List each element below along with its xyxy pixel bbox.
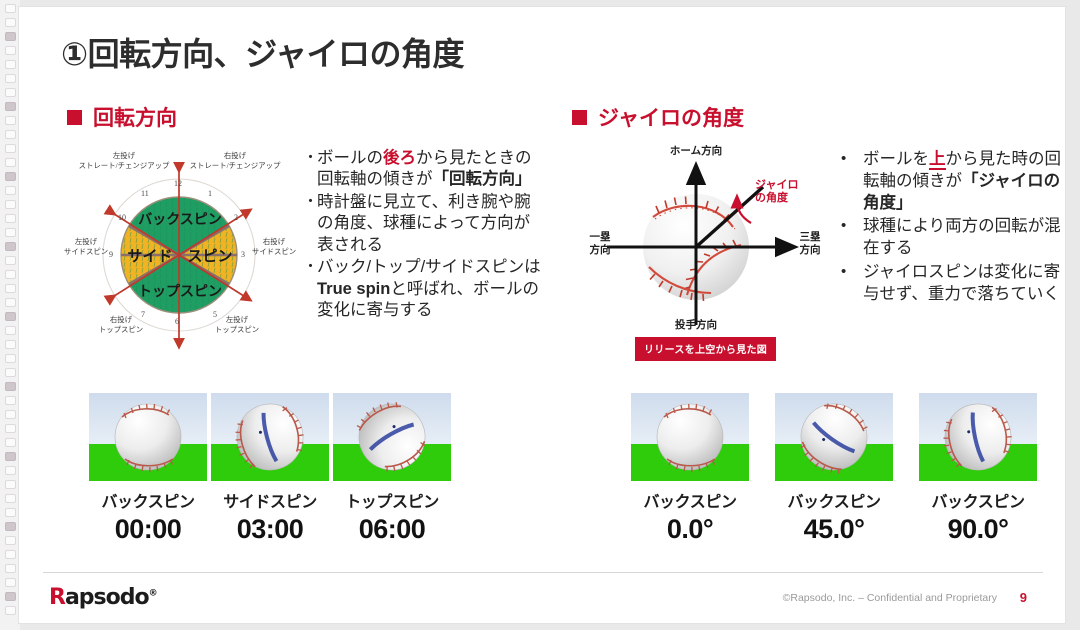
bullet-segment: 上 xyxy=(929,150,946,170)
binding-ring xyxy=(5,158,16,167)
binding-ring xyxy=(5,340,16,349)
binding-ring xyxy=(5,172,16,181)
right-bullet-list: •ボールを上から見た時の回転軸の傾きが「ジャイロの角度」•球種により両方の回転が… xyxy=(841,149,1069,307)
gyro-angle-value: 90.0° xyxy=(919,514,1037,545)
binding-ring xyxy=(5,186,16,195)
wedge-label-topspin: トップスピン xyxy=(131,281,229,301)
binding-ring xyxy=(5,298,16,307)
clock-number-6: 6 xyxy=(175,317,179,326)
bullet-dot-icon: • xyxy=(841,149,863,214)
spin-direction-value: 03:00 xyxy=(211,514,329,545)
gyro-angle-value: 0.0° xyxy=(631,514,749,545)
spin-direction-clock-diagram: 12 1 2 3 5 6 7 9 10 11 バックスピン サイド スピン トッ… xyxy=(63,147,295,362)
binding-ring xyxy=(5,214,16,223)
binding-ring xyxy=(5,312,16,321)
gyro-angle-caption: バックスピン xyxy=(631,488,749,512)
clock-outer-label-left: 左投げ サイドスピン xyxy=(59,237,113,257)
binding-ring xyxy=(5,438,16,447)
gyro-angle-caption: バックスピン xyxy=(775,488,893,512)
baseball-image xyxy=(211,393,329,481)
binding-ring xyxy=(5,74,16,83)
rapsodo-logo: Rapsodo® xyxy=(49,585,157,610)
ball-thumbnail xyxy=(919,393,1037,481)
binding-ring xyxy=(5,116,16,125)
bullet-segment: 後ろ xyxy=(383,149,416,167)
wedge-label-side: サイド xyxy=(121,245,179,266)
bullet-dot-icon: ・ xyxy=(303,148,317,191)
gyro-angle-value: 45.0° xyxy=(775,514,893,545)
binding-ring xyxy=(5,4,16,13)
spin-direction-card: トップスピン06:00 xyxy=(333,393,451,545)
binding-ring xyxy=(5,382,16,391)
slide-canvas: ①回転方向、ジャイロの角度 回転方向 ジャイロの角度 xyxy=(18,6,1066,624)
binding-ring xyxy=(5,228,16,237)
section-heading-label: 回転方向 xyxy=(93,102,177,132)
binding-ring xyxy=(5,452,16,461)
gyro-angle-card: バックスピン90.0° xyxy=(919,393,1037,545)
binding-ring xyxy=(5,130,16,139)
left-bullet-text: バック/トップ/サイドスピンはTrue spinと呼ばれ、ボールの変化に寄与する xyxy=(317,257,543,321)
bullet-square-icon xyxy=(67,110,82,125)
logo-registered-mark: ® xyxy=(149,589,157,599)
bullet-segment: 「回転方向」 xyxy=(433,170,532,188)
binding-ring xyxy=(5,284,16,293)
binding-ring xyxy=(5,18,16,27)
gyro-angle-caption: バックスピン xyxy=(919,488,1037,512)
binding-ring xyxy=(5,396,16,405)
spiral-binding xyxy=(0,0,20,630)
section-heading-spin-direction: 回転方向 xyxy=(67,102,177,132)
right-bullet-item: •球種により両方の回転が混在する xyxy=(841,216,1069,260)
wedge-label-spin: スピン xyxy=(181,245,239,266)
footer-divider xyxy=(43,572,1043,573)
gyro-angle-card: バックスピン45.0° xyxy=(775,393,893,545)
clock-number-2: 2 xyxy=(234,213,238,222)
bullet-dot-icon: • xyxy=(841,216,863,260)
binding-ring xyxy=(5,354,16,363)
footer-copyright: ©Rapsodo, Inc. – Confidential and Propri… xyxy=(783,592,997,604)
binding-ring xyxy=(5,410,16,419)
binding-ring xyxy=(5,60,16,69)
gyro-angle-card: バックスピン0.0° xyxy=(631,393,749,545)
baseball-image xyxy=(333,393,451,481)
binding-ring xyxy=(5,326,16,335)
binding-ring xyxy=(5,550,16,559)
bullet-dot-icon: ・ xyxy=(303,192,317,256)
left-bullet-item: ・バック/トップ/サイドスピンはTrue spinと呼ばれ、ボールの変化に寄与す… xyxy=(303,257,543,321)
bullet-segment: ボールを xyxy=(863,150,929,168)
clock-number-1: 1 xyxy=(208,189,212,198)
gyro-axis-label-home: ホーム方向 xyxy=(646,145,746,158)
ball-thumbnail xyxy=(775,393,893,481)
clock-outer-label-bottom-left: 右投げ トップスピン xyxy=(79,315,163,335)
binding-ring xyxy=(5,564,16,573)
clock-outer-label-top-left: 左投げ ストレート/チェンジアップ xyxy=(69,151,179,171)
spin-direction-caption: バックスピン xyxy=(89,488,207,512)
right-bullet-item: •ボールを上から見た時の回転軸の傾きが「ジャイロの角度」 xyxy=(841,149,1069,214)
bullet-segment: ボールの xyxy=(317,149,383,167)
right-bullet-text: ボールを上から見た時の回転軸の傾きが「ジャイロの角度」 xyxy=(863,149,1069,214)
clock-outer-label-top-right: 右投げ ストレート/チェンジアップ xyxy=(179,151,291,171)
baseball-image xyxy=(919,393,1037,481)
bullet-dot-icon: • xyxy=(841,262,863,306)
binding-ring xyxy=(5,242,16,251)
bullet-dot-icon: ・ xyxy=(303,257,317,321)
spin-direction-value: 00:00 xyxy=(89,514,207,545)
binding-ring xyxy=(5,508,16,517)
ball-thumbnail xyxy=(211,393,329,481)
spin-direction-value: 06:00 xyxy=(333,514,451,545)
binding-ring xyxy=(5,88,16,97)
clock-number-12: 12 xyxy=(174,179,182,188)
spin-direction-caption: トップスピン xyxy=(333,488,451,512)
binding-ring xyxy=(5,522,16,531)
page-title: ①回転方向、ジャイロの角度 xyxy=(61,29,464,75)
binding-ring xyxy=(5,466,16,475)
binding-ring xyxy=(5,32,16,41)
clock-number-10: 10 xyxy=(118,213,126,222)
logo-rest: apsodo xyxy=(65,585,149,610)
spin-direction-caption: サイドスピン xyxy=(211,488,329,512)
ball-thumbnail xyxy=(89,393,207,481)
bullet-square-icon xyxy=(572,110,587,125)
left-bullet-item: ・ボールの後ろから見たときの回転軸の傾きが「回転方向」 xyxy=(303,148,543,191)
clock-outer-label-bottom-right: 左投げ トップスピン xyxy=(195,315,279,335)
clock-number-3: 3 xyxy=(241,250,245,259)
clock-outer-label-right: 右投げ サイドスピン xyxy=(247,237,301,257)
section-heading-gyro-angle: ジャイロの角度 xyxy=(572,102,744,132)
bullet-segment: 時計盤に見立て、利き腕や腕の角度、球種によって方向が表される xyxy=(317,193,531,254)
right-bullet-text: ジャイロスピンは変化に寄与せず、重力で落ちていく xyxy=(863,262,1069,306)
wedge-label-backspin: バックスピン xyxy=(131,209,229,229)
bullet-segment: バック/トップ/サイドスピンは xyxy=(317,258,541,276)
binding-ring xyxy=(5,270,16,279)
right-bullet-item: •ジャイロスピンは変化に寄与せず、重力で落ちていく xyxy=(841,262,1069,306)
binding-ring xyxy=(5,46,16,55)
binding-ring xyxy=(5,592,16,601)
ball-thumbnail xyxy=(631,393,749,481)
left-bullet-item: ・時計盤に見立て、利き腕や腕の角度、球種によって方向が表される xyxy=(303,192,543,256)
baseball-image xyxy=(775,393,893,481)
binding-ring xyxy=(5,606,16,615)
logo-initial: R xyxy=(49,585,65,610)
section-heading-label: ジャイロの角度 xyxy=(598,102,744,132)
gyro-axis-label-third-base: 三塁 方向 xyxy=(791,231,829,257)
clock-number-11: 11 xyxy=(141,189,149,198)
gyro-axis-label-first-base: 一塁 方向 xyxy=(583,231,617,257)
page-number: 9 xyxy=(1020,590,1027,605)
left-bullet-text: 時計盤に見立て、利き腕や腕の角度、球種によって方向が表される xyxy=(317,192,543,256)
right-bullet-text: 球種により両方の回転が混在する xyxy=(863,216,1069,260)
bullet-segment: 球種により両方の回転が混在する xyxy=(863,217,1061,257)
binding-ring xyxy=(5,256,16,265)
binding-ring xyxy=(5,536,16,545)
binding-ring xyxy=(5,200,16,209)
gyro-view-badge: リリースを上空から見た図 xyxy=(635,337,776,361)
gyro-axis-label-pitcher: 投手方向 xyxy=(646,319,746,332)
binding-ring xyxy=(5,480,16,489)
gyro-angle-callout: ジャイロ の角度 xyxy=(755,179,798,205)
bullet-segment: True spin xyxy=(317,280,390,298)
baseball-image xyxy=(89,393,207,481)
binding-ring xyxy=(5,368,16,377)
binding-ring xyxy=(5,144,16,153)
left-bullet-text: ボールの後ろから見たときの回転軸の傾きが「回転方向」 xyxy=(317,148,543,191)
binding-ring xyxy=(5,494,16,503)
spin-direction-card: サイドスピン03:00 xyxy=(211,393,329,545)
bullet-segment: ジャイロスピンは変化に寄与せず、重力で落ちていく xyxy=(863,263,1060,303)
binding-ring xyxy=(5,578,16,587)
binding-ring xyxy=(5,424,16,433)
binding-ring xyxy=(5,102,16,111)
ball-thumbnail xyxy=(333,393,451,481)
left-bullet-list: ・ボールの後ろから見たときの回転軸の傾きが「回転方向」・時計盤に見立て、利き腕や… xyxy=(303,148,543,323)
baseball-image xyxy=(631,393,749,481)
spin-direction-card: バックスピン00:00 xyxy=(89,393,207,545)
gyro-angle-diagram: ホーム方向 投手方向 一塁 方向 三塁 方向 ジャイロ の角度 リリースを上空か… xyxy=(591,147,841,362)
